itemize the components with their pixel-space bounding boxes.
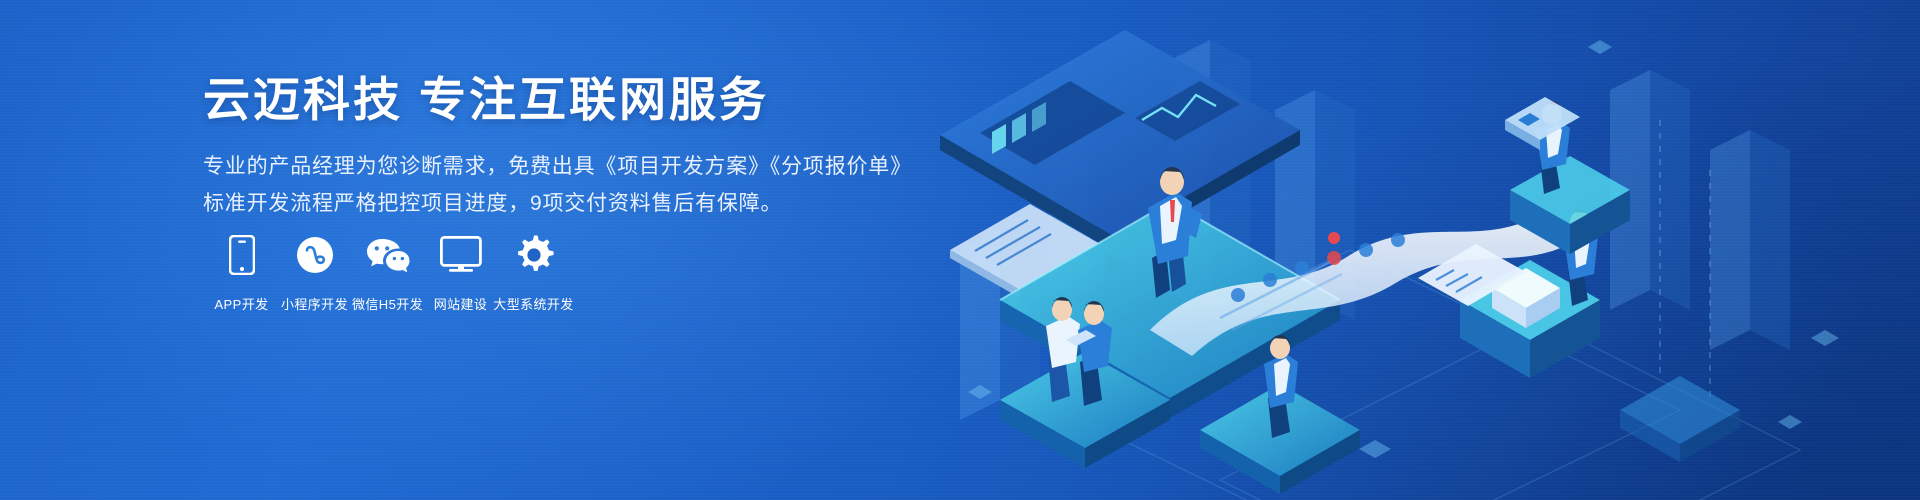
service-label: APP开发 bbox=[214, 294, 268, 313]
banner-copy: 云迈科技 专注互联网服务 专业的产品经理为您诊断需求，免费出具《项目开发方案》《… bbox=[203, 72, 963, 223]
subtitle-line-2: 标准开发流程严格把控项目进度，9项交付资料售后有保障。 bbox=[203, 186, 963, 223]
service-item-wechat-h5[interactable]: 微信H5开发 bbox=[351, 232, 424, 313]
service-label: 网站建设 bbox=[434, 294, 488, 313]
service-item-large-system[interactable]: 大型系统开发 bbox=[497, 232, 570, 313]
service-item-website[interactable]: 网站建设 bbox=[424, 232, 497, 313]
monitor-icon bbox=[440, 232, 482, 278]
mini-program-icon bbox=[296, 232, 334, 278]
service-label: 大型系统开发 bbox=[493, 294, 573, 313]
service-item-miniprogram[interactable]: 小程序开发 bbox=[278, 232, 351, 313]
page-title: 云迈科技 专注互联网服务 bbox=[203, 72, 963, 127]
isometric-illustration bbox=[920, 0, 1920, 500]
mobile-phone-icon bbox=[229, 232, 255, 278]
banner-subtitle: 专业的产品经理为您诊断需求，免费出具《项目开发方案》《分项报价单》 标准开发流程… bbox=[203, 149, 963, 223]
service-label: 微信H5开发 bbox=[352, 294, 423, 313]
hero-banner: 云迈科技 专注互联网服务 专业的产品经理为您诊断需求，免费出具《项目开发方案》《… bbox=[0, 0, 1920, 500]
subtitle-line-1: 专业的产品经理为您诊断需求，免费出具《项目开发方案》《分项报价单》 bbox=[203, 149, 963, 186]
gear-icon bbox=[514, 232, 554, 278]
service-item-app[interactable]: APP开发 bbox=[205, 232, 278, 313]
service-label: 小程序开发 bbox=[281, 294, 348, 313]
wechat-icon bbox=[366, 232, 410, 278]
service-list: APP开发 小程序开发 微信 bbox=[205, 232, 570, 313]
